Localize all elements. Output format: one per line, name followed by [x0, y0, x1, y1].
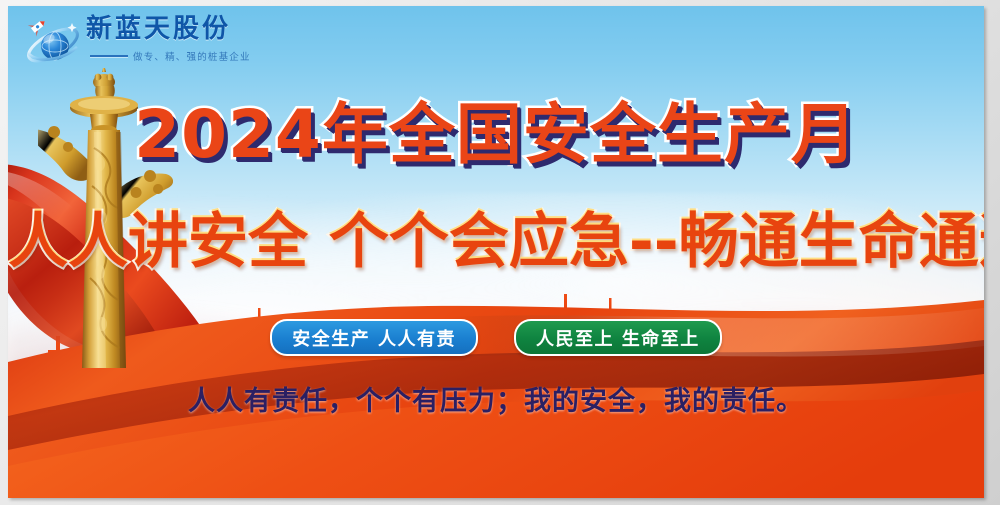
badge-safety-production: 安全生产 人人有责 — [270, 319, 478, 356]
poster-canvas: 新蓝天股份 做专、精、强的桩基企业 2024年全国安全生产月 人人讲安全 个个会… — [8, 6, 984, 498]
poster-root: 新蓝天股份 做专、精、强的桩基企业 2024年全国安全生产月 人人讲安全 个个会… — [0, 0, 1000, 505]
company-tagline-row: 做专、精、强的桩基企业 — [90, 49, 251, 63]
globe-orbit-rocket-icon — [22, 12, 84, 70]
badge-people-first: 人民至上 生命至上 — [514, 319, 722, 356]
tagline-rule — [90, 55, 128, 57]
badge-row: 安全生产 人人有责 人民至上 生命至上 — [8, 319, 984, 356]
headline-secondary: 人人讲安全 个个会应急--畅通生命通道 — [8, 212, 984, 272]
company-tagline: 做专、精、强的桩基企业 — [133, 49, 251, 63]
company-logo: 新蓝天股份 做专、精、强的桩基企业 — [22, 8, 251, 70]
company-logo-text: 新蓝天股份 做专、精、强的桩基企业 — [86, 8, 251, 63]
company-name: 新蓝天股份 — [86, 16, 251, 42]
headline-primary: 2024年全国安全生产月 — [8, 102, 984, 168]
bottom-slogan: 人人有责任，个个有压力；我的安全，我的责任。 — [8, 379, 984, 418]
